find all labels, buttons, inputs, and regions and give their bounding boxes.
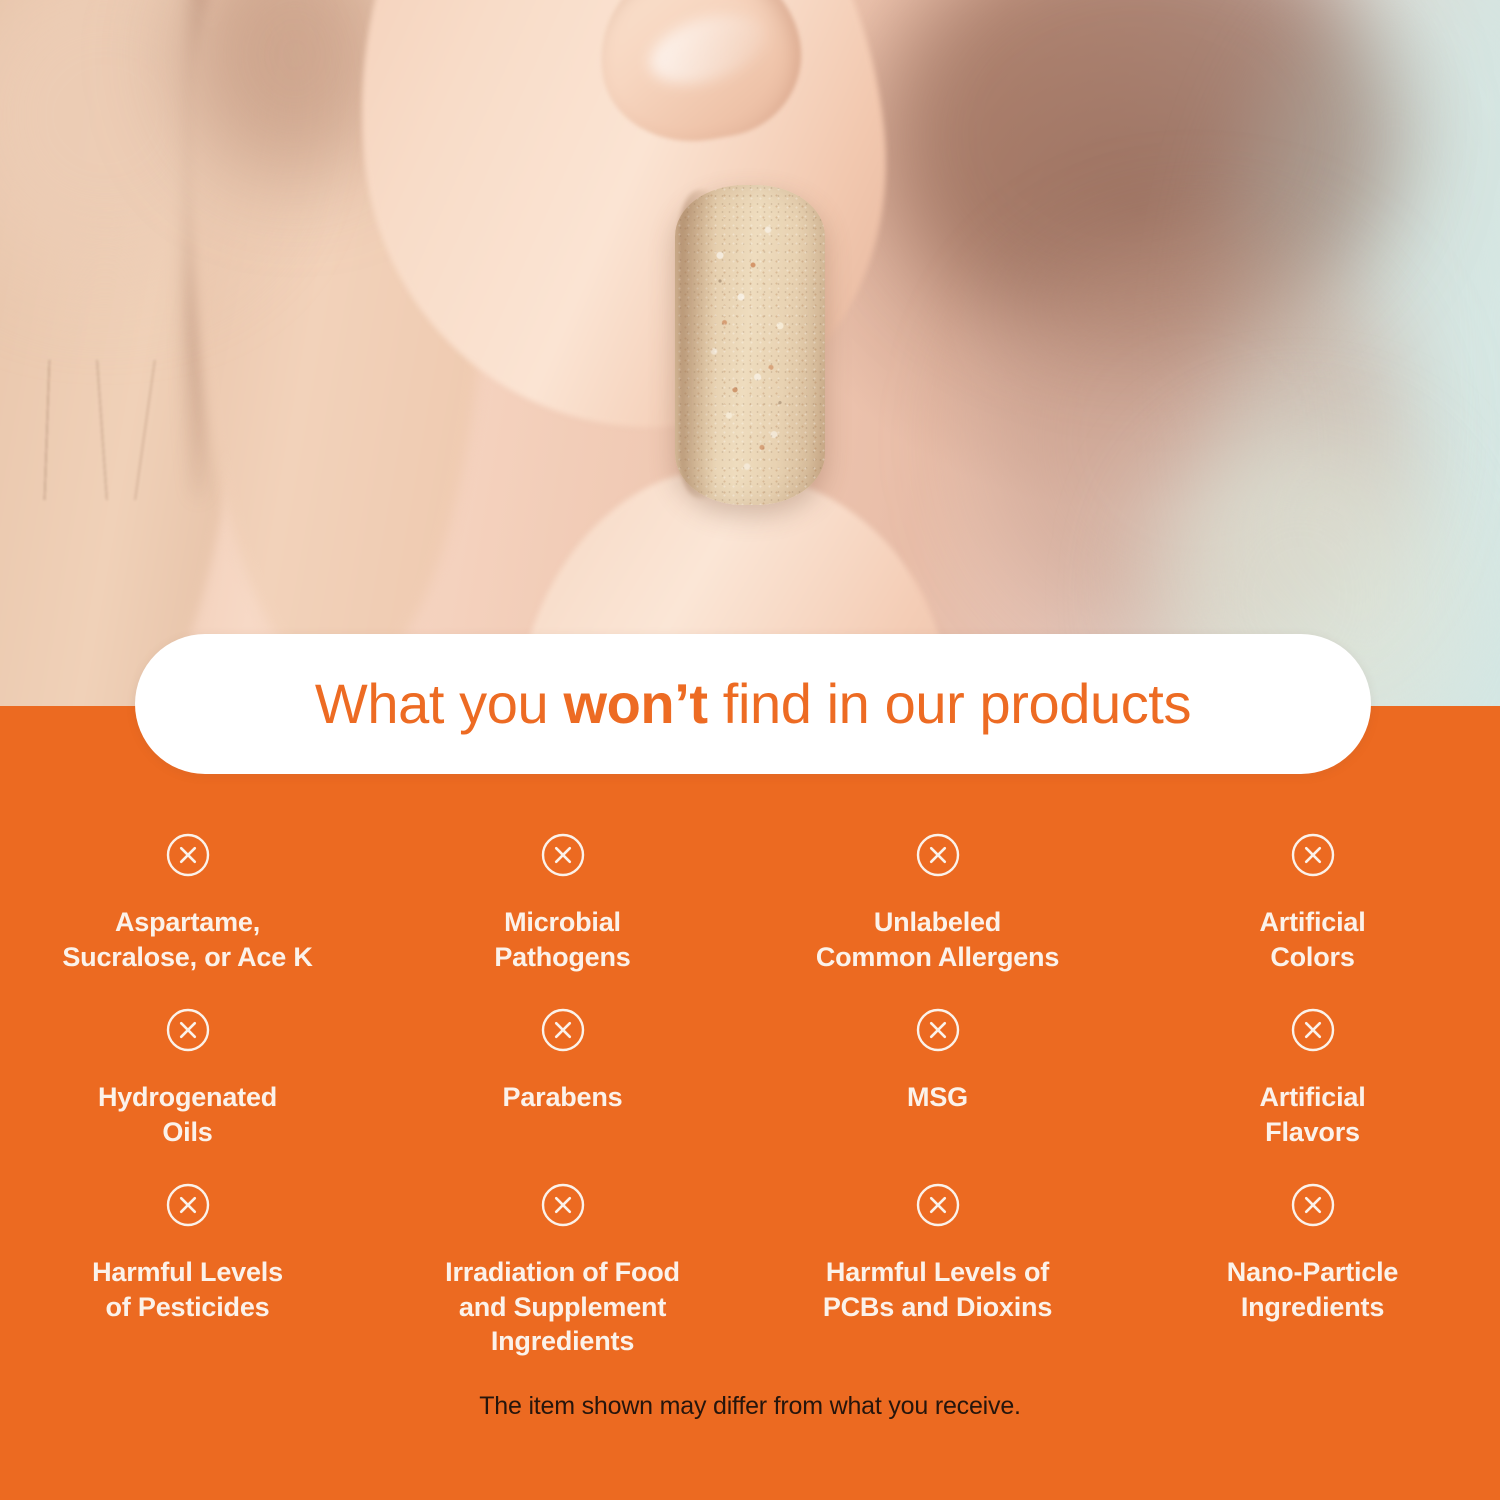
circle-x-icon bbox=[165, 1182, 211, 1228]
exclusion-label: ArtificialFlavors bbox=[1259, 1080, 1365, 1149]
exclusion-label: Harmful Levels ofPCBs and Dioxins bbox=[823, 1255, 1052, 1324]
exclusion-label: Parabens bbox=[503, 1080, 623, 1115]
circle-x-icon bbox=[915, 832, 961, 878]
skin-hairs bbox=[30, 360, 210, 500]
exclusion-item: Parabens bbox=[375, 975, 750, 1150]
exclusion-item: ArtificialFlavors bbox=[1125, 975, 1500, 1150]
exclusion-label: Aspartame,Sucralose, or Ace K bbox=[62, 905, 312, 974]
exclusion-item: Irradiation of Foodand SupplementIngredi… bbox=[375, 1150, 750, 1325]
circle-x-icon bbox=[165, 1007, 211, 1053]
product-infographic: What you won’t find in our products Aspa… bbox=[0, 0, 1500, 1500]
exclusion-item: HydrogenatedOils bbox=[0, 975, 375, 1150]
exclusion-item: Harmful Levels ofPCBs and Dioxins bbox=[750, 1150, 1125, 1325]
circle-x-icon bbox=[1290, 1182, 1336, 1228]
exclusion-label: Nano-ParticleIngredients bbox=[1227, 1255, 1398, 1324]
title-prefix: What you bbox=[315, 672, 564, 735]
exclusion-item: MicrobialPathogens bbox=[375, 800, 750, 975]
circle-x-icon bbox=[165, 832, 211, 878]
circle-x-icon bbox=[540, 1182, 586, 1228]
title-emphasis: won’t bbox=[563, 672, 707, 735]
exclusion-item: MSG bbox=[750, 975, 1125, 1150]
tablet-edge bbox=[679, 190, 713, 498]
exclusion-label: UnlabeledCommon Allergens bbox=[816, 905, 1059, 974]
exclusion-item: ArtificialColors bbox=[1125, 800, 1500, 975]
circle-x-icon bbox=[1290, 1007, 1336, 1053]
exclusion-item: Nano-ParticleIngredients bbox=[1125, 1150, 1500, 1325]
exclusion-item: Aspartame,Sucralose, or Ace K bbox=[0, 800, 375, 975]
headline-card: What you won’t find in our products bbox=[135, 634, 1371, 774]
exclusion-label: MicrobialPathogens bbox=[494, 905, 630, 974]
exclusion-label: Harmful Levelsof Pesticides bbox=[92, 1255, 283, 1324]
disclaimer-text: The item shown may differ from what you … bbox=[0, 1392, 1500, 1421]
title-suffix: find in our products bbox=[708, 672, 1191, 735]
circle-x-icon bbox=[915, 1182, 961, 1228]
product-photo bbox=[0, 0, 1500, 706]
circle-x-icon bbox=[1290, 832, 1336, 878]
excluded-ingredients-grid: Aspartame,Sucralose, or Ace KMicrobialPa… bbox=[0, 800, 1500, 1325]
exclusion-label: Irradiation of Foodand SupplementIngredi… bbox=[445, 1255, 680, 1359]
exclusion-label: MSG bbox=[907, 1080, 968, 1115]
photo-blur-layer bbox=[0, 0, 1500, 706]
page-title: What you won’t find in our products bbox=[315, 676, 1191, 732]
exclusion-item: Harmful Levelsof Pesticides bbox=[0, 1150, 375, 1325]
circle-x-icon bbox=[540, 1007, 586, 1053]
circle-x-icon bbox=[915, 1007, 961, 1053]
exclusion-item: UnlabeledCommon Allergens bbox=[750, 800, 1125, 975]
exclusion-label: HydrogenatedOils bbox=[98, 1080, 277, 1149]
circle-x-icon bbox=[540, 832, 586, 878]
exclusion-label: ArtificialColors bbox=[1259, 905, 1365, 974]
